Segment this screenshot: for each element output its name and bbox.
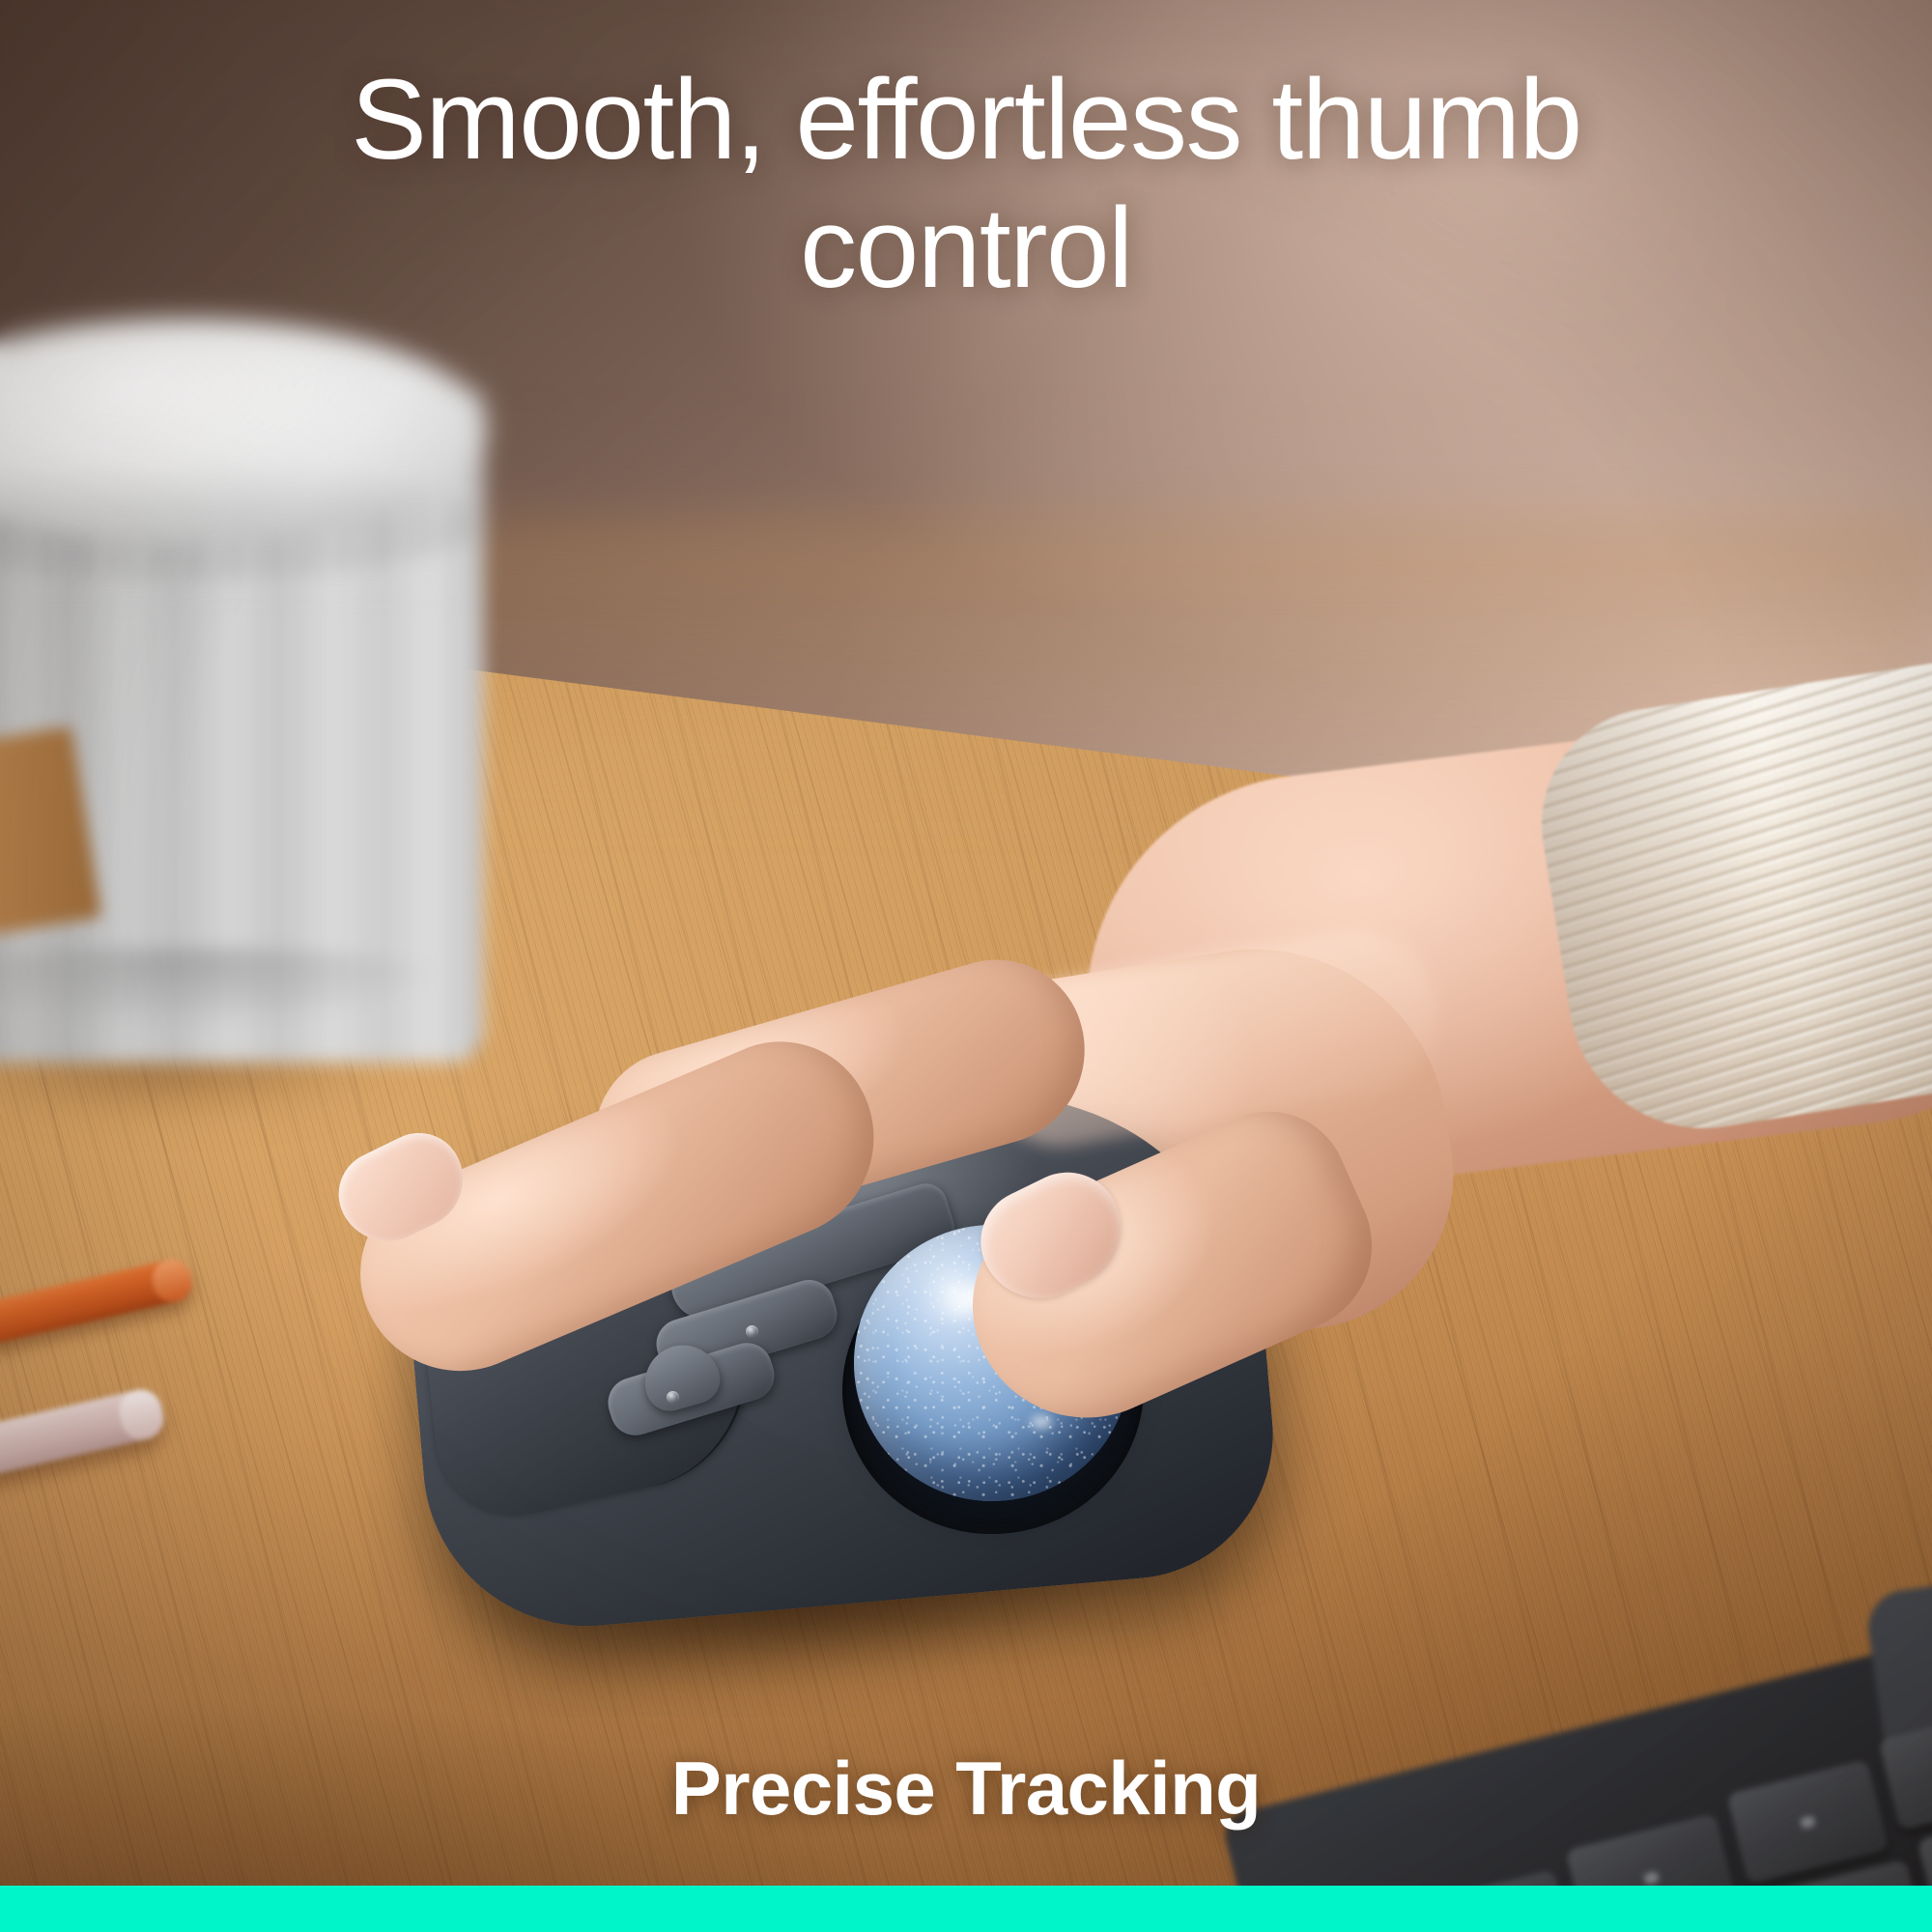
mouse-led-indicator-upper: [746, 1325, 758, 1338]
footer-accent-bar: [0, 1886, 1932, 1932]
key-glyph: [1643, 1871, 1659, 1885]
headline-line-1: Smooth, effortless thumb: [351, 56, 1581, 184]
feature-caption: Precise Tracking: [0, 1745, 1932, 1833]
banner-stage: Smooth, effortless thumb control Precise…: [0, 0, 1932, 1932]
sweater-cuff: [1525, 649, 1932, 1148]
fluted-ceramic-vase: [0, 319, 483, 1111]
mouse-led-indicator-lower: [667, 1391, 679, 1404]
headline: Smooth, effortless thumb control: [0, 56, 1932, 314]
headline-line-2: control: [164, 185, 1768, 313]
